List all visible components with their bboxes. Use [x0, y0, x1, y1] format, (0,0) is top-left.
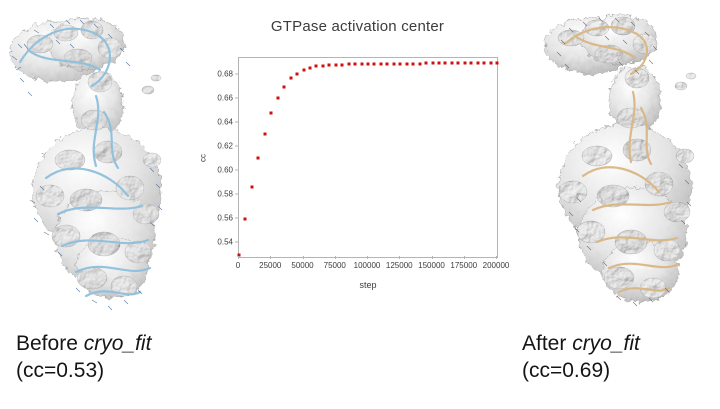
- caption-before: Before cryo_fit (cc=0.53): [16, 330, 151, 384]
- y-axis-tick-mark: [235, 241, 238, 242]
- x-axis-tick-label: 25000: [259, 261, 281, 270]
- plot-area: [238, 57, 498, 258]
- data-point: [354, 63, 357, 66]
- data-point: [244, 217, 247, 220]
- data-point: [489, 62, 492, 65]
- x-axis-tick-mark: [367, 256, 368, 259]
- y-axis-tick-label: 0.56: [217, 213, 233, 222]
- data-point: [308, 66, 311, 69]
- data-point: [379, 62, 382, 65]
- x-axis-tick-mark: [464, 256, 465, 259]
- cryoem-density-after: [513, 0, 720, 320]
- data-point: [392, 62, 395, 65]
- data-point: [334, 63, 337, 66]
- data-point: [289, 77, 292, 80]
- data-point: [412, 62, 415, 65]
- y-axis-tick-mark: [235, 217, 238, 218]
- caption-before-cc: (cc=0.53): [16, 357, 151, 384]
- data-point: [463, 62, 466, 65]
- data-point: [476, 62, 479, 65]
- caption-after-cc: (cc=0.69): [522, 357, 640, 384]
- cc-convergence-chart: GTPase activation center cc step 0.540.5…: [205, 8, 510, 308]
- data-point: [270, 112, 273, 115]
- data-point: [321, 64, 324, 67]
- data-point: [250, 186, 253, 189]
- data-point: [450, 62, 453, 65]
- data-point: [386, 62, 389, 65]
- data-point: [367, 62, 370, 65]
- x-axis-tick-mark: [238, 256, 239, 259]
- x-axis-tick-label: 100000: [354, 261, 381, 270]
- x-axis-tick-mark: [496, 256, 497, 259]
- y-axis-tick-mark: [235, 97, 238, 98]
- data-point: [483, 62, 486, 65]
- x-axis-tick-label: 50000: [291, 261, 313, 270]
- data-point: [470, 62, 473, 65]
- x-axis-tick-mark: [432, 256, 433, 259]
- data-point: [418, 62, 421, 65]
- y-axis-tick-label: 0.58: [217, 189, 233, 198]
- x-axis-tick-label: 200000: [483, 261, 510, 270]
- x-axis-tick-label: 0: [236, 261, 240, 270]
- y-axis-tick-mark: [235, 169, 238, 170]
- data-point: [373, 62, 376, 65]
- data-point: [341, 63, 344, 66]
- y-axis-tick-mark: [235, 73, 238, 74]
- data-point: [425, 62, 428, 65]
- data-point: [276, 96, 279, 99]
- data-point: [360, 62, 363, 65]
- x-axis-tick-mark: [270, 256, 271, 259]
- structure-panel-after: [513, 0, 720, 320]
- caption-before-italic: cryo_fit: [84, 332, 152, 355]
- y-axis-tick-mark: [235, 121, 238, 122]
- x-axis-tick-mark: [335, 256, 336, 259]
- chart-x-axis-label: step: [238, 280, 498, 290]
- data-point: [496, 62, 499, 65]
- data-point: [457, 62, 460, 65]
- y-axis-tick-label: 0.60: [217, 165, 233, 174]
- caption-after-italic: cryo_fit: [572, 332, 640, 355]
- chart-y-axis-label: cc: [199, 154, 208, 162]
- x-axis-tick-label: 125000: [386, 261, 413, 270]
- data-point: [437, 62, 440, 65]
- caption-after-prefix: After: [522, 332, 572, 355]
- x-axis-tick-label: 75000: [324, 261, 346, 270]
- y-axis-tick-label: 0.68: [217, 69, 233, 78]
- y-axis-tick-label: 0.54: [217, 237, 233, 246]
- structure-panel-before: [0, 0, 205, 320]
- plot-points-layer: [239, 58, 497, 257]
- data-point: [405, 62, 408, 65]
- chart-title: GTPase activation center: [205, 18, 510, 35]
- x-axis-tick-label: 175000: [450, 261, 477, 270]
- y-axis-tick-label: 0.64: [217, 117, 233, 126]
- data-point: [315, 65, 318, 68]
- caption-before-prefix: Before: [16, 332, 84, 355]
- y-axis-tick-label: 0.66: [217, 93, 233, 102]
- data-point: [347, 63, 350, 66]
- data-point: [399, 62, 402, 65]
- data-point: [431, 62, 434, 65]
- data-point: [302, 68, 305, 71]
- data-point: [257, 156, 260, 159]
- data-point: [263, 132, 266, 135]
- data-point: [296, 72, 299, 75]
- data-point: [328, 64, 331, 67]
- data-point: [444, 62, 447, 65]
- cryoem-density-before: [0, 0, 205, 320]
- data-point: [283, 85, 286, 88]
- x-axis-tick-mark: [303, 256, 304, 259]
- y-axis-tick-mark: [235, 145, 238, 146]
- x-axis-tick-mark: [399, 256, 400, 259]
- y-axis-tick-mark: [235, 193, 238, 194]
- y-axis-tick-label: 0.62: [217, 141, 233, 150]
- caption-after: After cryo_fit (cc=0.69): [522, 330, 640, 384]
- x-axis-tick-label: 150000: [418, 261, 445, 270]
